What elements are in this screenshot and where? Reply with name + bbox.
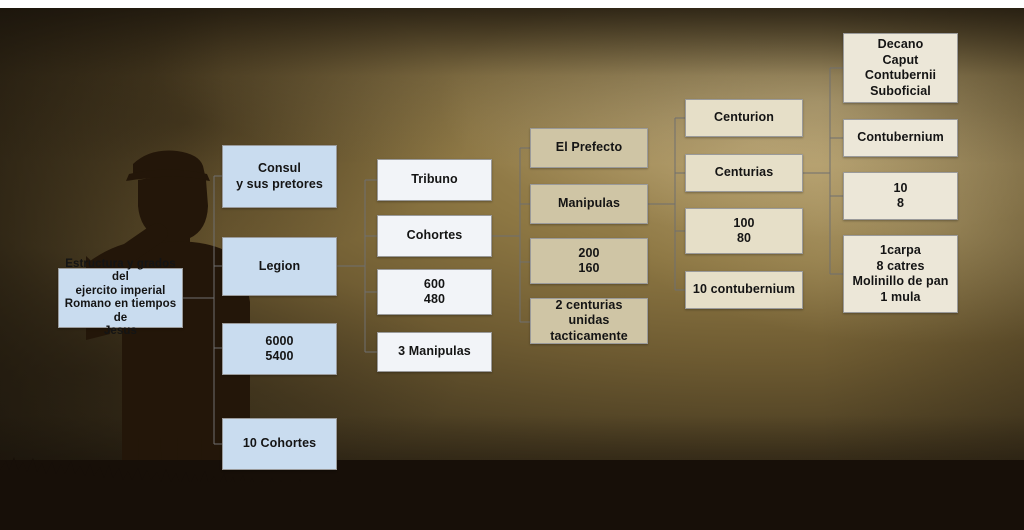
node-cohortes[interactable]: Cohortes bbox=[377, 215, 492, 257]
node-tribuno[interactable]: Tribuno bbox=[377, 159, 492, 201]
slide-canvas: Estructura y grados del ejercito imperia… bbox=[0, 0, 1024, 530]
node-contubernium-size-label: 10 8 bbox=[893, 181, 907, 212]
node-contubernium-size[interactable]: 10 8 bbox=[843, 172, 958, 220]
node-manipulas-3-label: 3 Manipulas bbox=[398, 344, 471, 360]
node-root-label: Estructura y grados del ejercito imperia… bbox=[63, 258, 178, 339]
node-manipula-size-label: 200 160 bbox=[578, 246, 599, 277]
node-decano-label: Decano Caput Contubernii Suboficial bbox=[848, 37, 953, 99]
node-manipula-size[interactable]: 200 160 bbox=[530, 238, 648, 284]
node-decano[interactable]: Decano Caput Contubernii Suboficial bbox=[843, 33, 958, 103]
node-contubernium[interactable]: Contubernium bbox=[843, 119, 958, 157]
node-consul[interactable]: Consul y sus pretores bbox=[222, 145, 337, 208]
node-manipulas-label: Manipulas bbox=[558, 196, 620, 212]
node-centurias[interactable]: Centurias bbox=[685, 154, 803, 192]
node-contubernium-kit-label: 1carpa 8 catres Molinillo de pan 1 mula bbox=[852, 243, 948, 305]
node-root[interactable]: Estructura y grados del ejercito imperia… bbox=[58, 268, 183, 328]
node-cohorte-size[interactable]: 600 480 bbox=[377, 269, 492, 315]
node-tribuno-label: Tribuno bbox=[411, 172, 458, 188]
node-centuria-size-label: 100 80 bbox=[733, 216, 754, 247]
node-centuria-size[interactable]: 100 80 bbox=[685, 208, 803, 254]
node-legion-label: Legion bbox=[259, 259, 301, 275]
node-manipula-desc-label: 2 centurias unidas tacticamente bbox=[535, 298, 643, 345]
node-contubernium-10[interactable]: 10 contubernium bbox=[685, 271, 803, 309]
node-centurias-label: Centurias bbox=[715, 165, 774, 181]
node-manipulas-3[interactable]: 3 Manipulas bbox=[377, 332, 492, 372]
node-contubernium-kit[interactable]: 1carpa 8 catres Molinillo de pan 1 mula bbox=[843, 235, 958, 313]
node-manipulas[interactable]: Manipulas bbox=[530, 184, 648, 224]
node-cohortes-10[interactable]: 10 Cohortes bbox=[222, 418, 337, 470]
node-centurion-label: Centurion bbox=[714, 110, 774, 126]
node-contubernium-label: Contubernium bbox=[857, 130, 944, 146]
node-manipula-desc[interactable]: 2 centurias unidas tacticamente bbox=[530, 298, 648, 344]
node-cohortes-label: Cohortes bbox=[407, 228, 463, 244]
node-cohorte-size-label: 600 480 bbox=[424, 277, 445, 308]
node-prefecto[interactable]: El Prefecto bbox=[530, 128, 648, 168]
node-contubernium-10-label: 10 contubernium bbox=[693, 282, 795, 298]
node-prefecto-label: El Prefecto bbox=[556, 140, 622, 156]
node-centurion[interactable]: Centurion bbox=[685, 99, 803, 137]
node-cohortes-10-label: 10 Cohortes bbox=[243, 436, 316, 452]
node-legion[interactable]: Legion bbox=[222, 237, 337, 296]
node-legion-size[interactable]: 6000 5400 bbox=[222, 323, 337, 375]
top-white-band bbox=[0, 0, 1024, 8]
node-legion-size-label: 6000 5400 bbox=[265, 334, 293, 365]
node-consul-label: Consul y sus pretores bbox=[236, 161, 323, 192]
